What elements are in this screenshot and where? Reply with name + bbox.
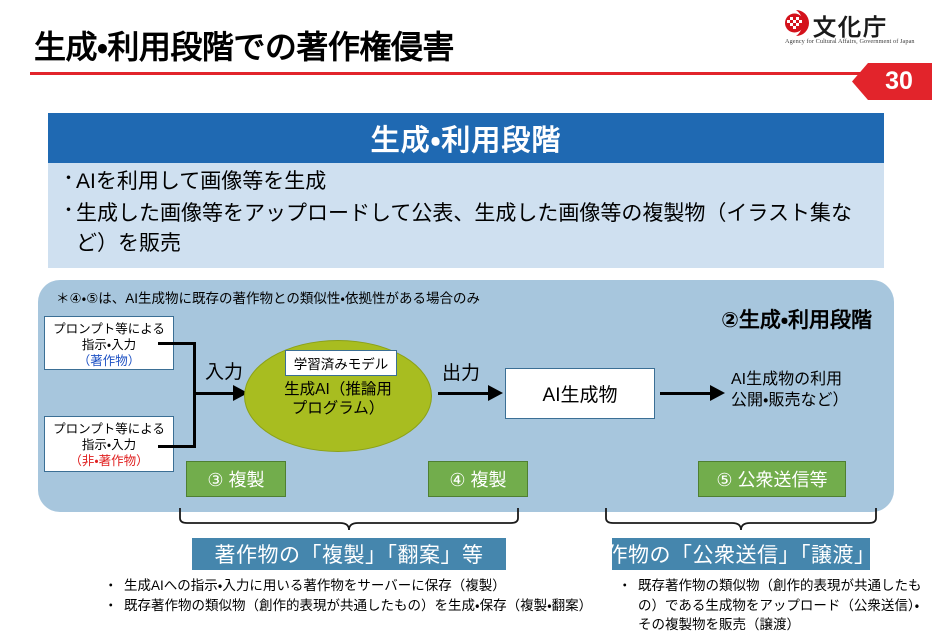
list-item-text: AIを利用して画像等を生成 [76,167,876,197]
ai-output-box: AI生成物 [505,368,655,419]
generative-ai-label: 生成AI（推論用 プログラム） [245,381,431,418]
generative-ai-label-line1: 生成AI（推論用 [245,381,431,400]
list-item: ・ 生成した画像等をアップロードして公表、生成した画像等の複製物（イラスト集など… [60,199,876,259]
bullet-marker-icon: ・ [60,199,76,224]
usage-arrow-head-icon [710,385,725,401]
bullet-marker-icon: ・ [96,576,124,596]
logo-subtitle: Agency for Cultural Affairs, Government … [785,38,915,45]
prompt-box-noncopyrighted: プロンプト等による 指示・入力 （非・著作物） [44,416,174,472]
stage-summary-panel: 生成・利用段階 ・ AIを利用して画像等を生成 ・ 生成した画像等をアップロード… [48,113,884,268]
title-divider [30,72,892,75]
output-arrow-label: 出力 [442,358,480,385]
list-item: ・ 既存著作物の類似物（創作的表現が共通したもの）である生成物をアップロード（公… [610,576,932,635]
generative-ai-oval: 学習済みモデル 生成AI（推論用 プログラム） [244,340,432,452]
flow-diagram-panel: ＊④・⑤は、AI生成物に既存の著作物との類似性・依拠性がある場合のみ ②生成・利… [38,280,894,512]
list-item: ・ 生成AIへの指示・入力に用いる著作物をサーバーに保存（複製） [96,576,626,596]
prompt-box-line1: プロンプト等による [45,421,173,437]
brace-right-icon [604,508,878,530]
bullet-marker-icon: ・ [60,167,76,192]
conclusion-label-transmission: 著作物の「公衆送信」「譲渡」等 [612,538,870,570]
prompt-box-line1: プロンプト等による [45,321,173,337]
list-item-text: 生成AIへの指示・入力に用いる著作物をサーバーに保存（複製） [124,576,626,596]
conclusion-label-reproduction: 著作物の「複製」「翻案」等 [192,538,506,570]
brace-left-icon [178,508,520,530]
stage-panel-bullet-list: ・ AIを利用して画像等を生成 ・ 生成した画像等をアップロードして公表、生成し… [60,167,876,260]
bullet-marker-icon: ・ [610,576,638,596]
usage-arrow-shaft [660,392,712,395]
usage-description-line2: 公開・販売など） [731,391,848,412]
act-box-public-transmission-5: ⑤ 公衆送信等 [698,461,846,497]
list-item: ・ 既存著作物の類似物（創作的表現が共通したもの）を生成・保存（複製・翻案） [96,596,626,616]
list-item-text: 既存著作物の類似物（創作的表現が共通したもの）を生成・保存（複製・翻案） [124,596,626,616]
trained-model-box: 学習済みモデル [285,350,397,376]
input-arrow-label: 入力 [205,357,243,384]
prompt-box-tag: （非・著作物） [45,453,173,469]
stage-panel-heading: 生成・利用段階 [48,113,884,163]
logo-wordmark: 文化庁 [813,8,888,42]
page-title: 生成・利用段階での著作権侵害 [34,22,454,68]
connector-line-top [158,342,196,345]
page-number-badge: 30 [852,63,932,100]
output-arrow-head-icon [488,385,503,401]
agency-logo: 文化庁 Agency for Cultural Affairs, Governm… [783,8,928,54]
act-box-reproduction-3: ③ 複製 [186,461,286,497]
prompt-box-copyrighted: プロンプト等による 指示・入力 （著作物） [44,316,174,370]
output-arrow-shaft [438,392,490,395]
bullet-marker-icon: ・ [96,596,124,616]
list-item: ・ AIを利用して画像等を生成 [60,167,876,197]
usage-description-line1: AI生成物の利用 [731,370,848,391]
diagram-footnote-asterisk: ＊④・⑤は、AI生成物に既存の著作物との類似性・依拠性がある場合のみ [56,287,480,307]
prompt-box-tag: （著作物） [45,353,173,369]
prompt-box-line2: 指示・入力 [45,337,173,353]
usage-description: AI生成物の利用 公開・販売など） [731,370,848,412]
generative-ai-label-line2: プログラム） [245,400,431,419]
input-arrow-shaft [193,392,235,395]
connector-line-vertical [193,342,196,448]
footnote-list-right: ・ 既存著作物の類似物（創作的表現が共通したもの）である生成物をアップロード（公… [610,576,932,635]
list-item-text: 既存著作物の類似物（創作的表現が共通したもの）である生成物をアップロード（公衆送… [638,576,932,635]
prompt-box-line2: 指示・入力 [45,437,173,453]
list-item-text: 生成した画像等をアップロードして公表、生成した画像等の複製物（イラスト集など）を… [76,199,876,259]
footnote-list-left: ・ 生成AIへの指示・入力に用いる著作物をサーバーに保存（複製） ・ 既存著作物… [96,576,626,615]
agency-seal-icon [783,10,809,36]
connector-line-bottom [158,445,196,448]
diagram-stage-label: ②生成・利用段階 [721,304,872,334]
act-box-reproduction-4: ④ 複製 [428,461,528,497]
